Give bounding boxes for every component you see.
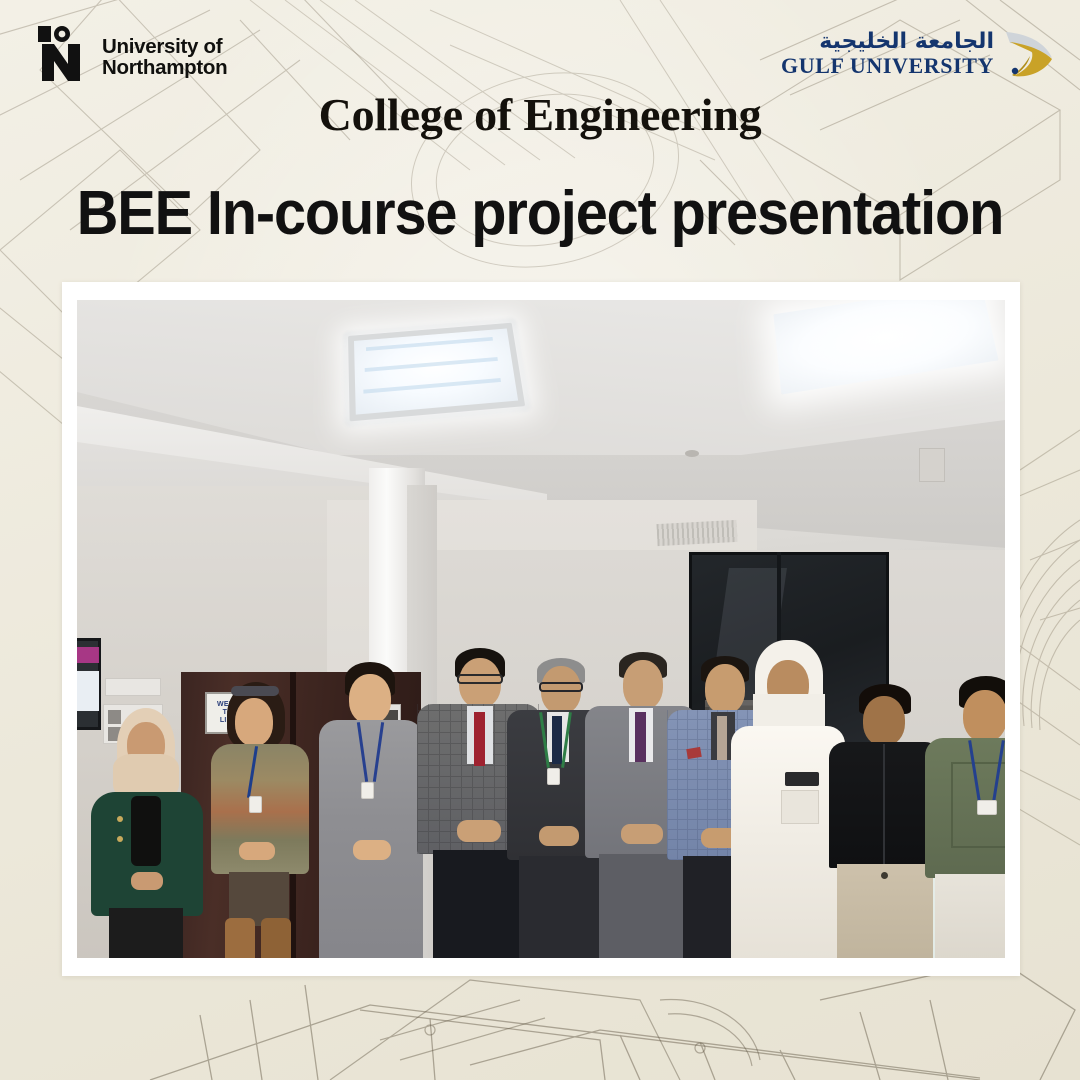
ceiling-light-panel-left <box>348 323 525 422</box>
page-subtitle-college: College of Engineering <box>0 88 1080 141</box>
gulf-university-wordmark: الجامعة الخليجية GULF UNIVERSITY <box>781 31 994 77</box>
person-2-woman-patterned-dress <box>205 682 315 958</box>
uon-line-1: University of <box>102 36 227 57</box>
wall-plaque-library-label <box>105 678 161 696</box>
gulf-university-english-name: GULF UNIVERSITY <box>781 55 994 77</box>
person-10-young-man-olive-tshirt <box>925 676 1005 958</box>
lanyard-badge <box>249 796 262 813</box>
gulf-university-arabic-name: الجامعة الخليجية <box>781 31 994 53</box>
lanyard-badge <box>361 782 374 799</box>
falcon-wing-emblem-icon <box>1000 26 1056 82</box>
university-of-northampton-logo: University of Northampton <box>38 26 227 81</box>
person-3-young-man-grey-thobe <box>315 662 425 958</box>
smoke-detector <box>685 450 699 457</box>
uon-wordmark: University of Northampton <box>102 36 227 79</box>
uon-monogram-icon <box>38 26 93 81</box>
lanyard-badge <box>977 800 997 815</box>
poster-header: University of Northampton الجامعة الخليج… <box>0 0 1080 95</box>
page-title: BEE In-course project presentation <box>38 178 1042 249</box>
uon-line-2: Northampton <box>102 57 227 78</box>
wall-control-box <box>919 448 945 482</box>
ceiling-vent <box>656 520 737 546</box>
gulf-university-logo: الجامعة الخليجية GULF UNIVERSITY <box>781 26 1056 82</box>
group-photo: WELCOME TO THE LIBRARY EXIT <box>77 300 1005 958</box>
lanyard-badge <box>547 768 560 785</box>
poster-canvas: University of Northampton الجامعة الخليج… <box>0 0 1080 1080</box>
person-1-woman-hijab-green-blazer <box>87 708 207 958</box>
